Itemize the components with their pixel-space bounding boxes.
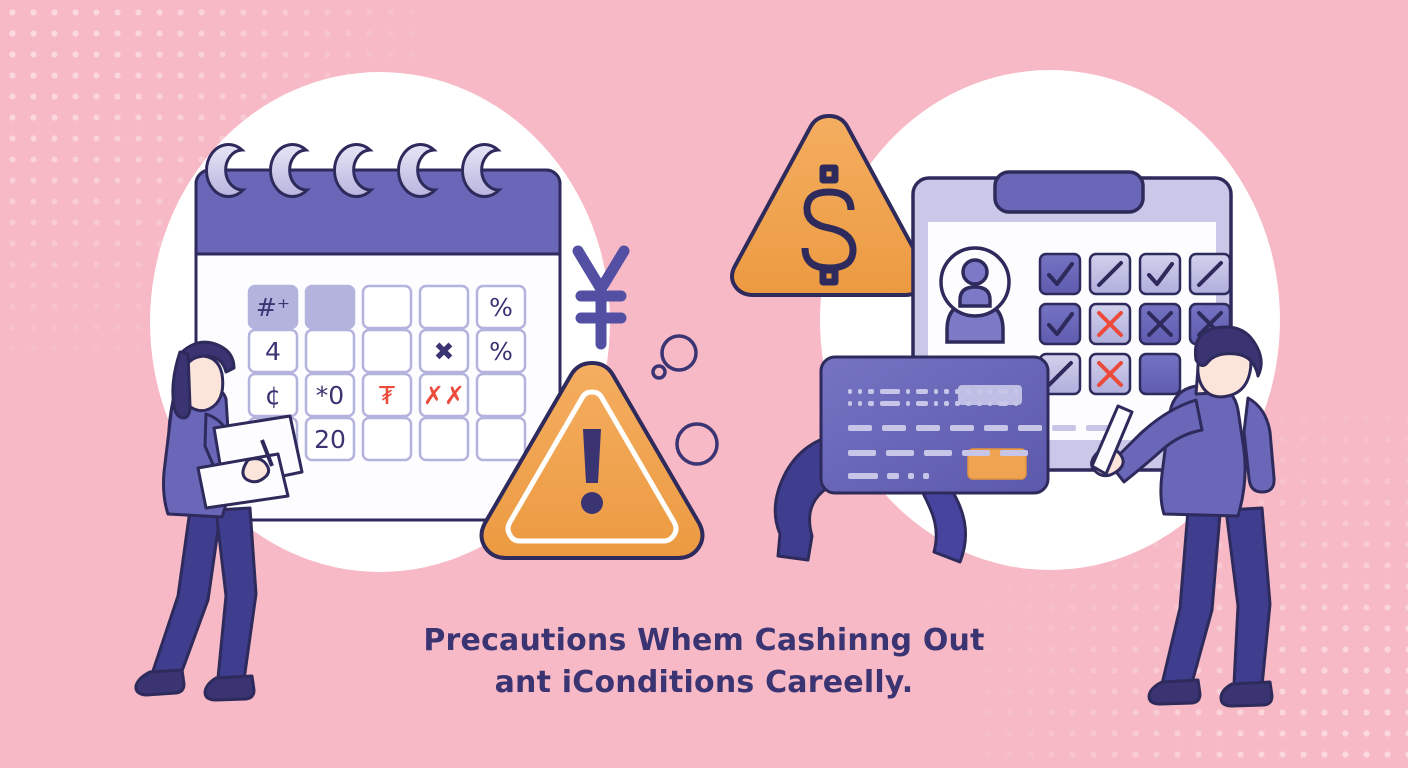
card-mark <box>848 425 872 431</box>
card-mark <box>858 401 862 406</box>
card-mark <box>916 401 928 406</box>
avatar-head <box>963 260 987 284</box>
card-mark <box>886 450 914 456</box>
card-mark <box>944 401 949 406</box>
card-mark <box>908 473 914 479</box>
card-mark <box>880 389 900 394</box>
card-mark <box>923 473 929 479</box>
card-mark <box>848 401 852 406</box>
arm-back <box>1244 398 1274 492</box>
card-mark <box>1014 401 1018 406</box>
user-avatar-icon <box>941 248 1009 342</box>
card-mark <box>1052 425 1076 431</box>
clipboard-clip <box>995 172 1143 212</box>
card-mark <box>848 450 876 456</box>
sweater <box>1161 386 1245 516</box>
card-mark <box>988 389 992 394</box>
caption-line-2: ant iConditions Careelly. <box>0 662 1408 704</box>
caption-line-1: Precautions Whem Cashinng Out <box>0 620 1408 662</box>
card-mark <box>906 401 910 406</box>
card-mark <box>962 450 990 456</box>
card-mark <box>966 389 971 394</box>
caption: Precautions Whem Cashinng Out ant iCondi… <box>0 620 1408 704</box>
card-mark <box>868 401 874 406</box>
card-mark <box>887 473 899 479</box>
card-mark <box>916 389 928 394</box>
card-mark <box>934 389 938 394</box>
card-mark <box>916 425 940 431</box>
card-mark <box>998 389 1008 394</box>
card-mark <box>977 401 982 406</box>
avatar-body <box>960 287 990 306</box>
card-mark <box>955 401 960 406</box>
card-mark <box>848 389 852 394</box>
card-mark <box>848 473 878 479</box>
card-mark <box>882 425 906 431</box>
card-mark <box>998 401 1008 406</box>
card-mark <box>988 401 992 406</box>
checklist-box[interactable] <box>1140 254 1180 294</box>
card-mark <box>924 450 952 456</box>
card-mark <box>880 401 900 406</box>
card-mark <box>966 401 971 406</box>
card-mark <box>950 425 974 431</box>
card-mark <box>977 389 982 394</box>
checklist-box[interactable] <box>1140 354 1180 394</box>
card-mark <box>944 389 949 394</box>
card-mark <box>1018 425 1042 431</box>
card-mark <box>868 389 874 394</box>
checklist-box[interactable] <box>1040 254 1080 294</box>
card-mark <box>984 425 1008 431</box>
dollar-warning-triangle <box>732 116 926 295</box>
card-mark <box>934 401 938 406</box>
card-mark <box>955 389 960 394</box>
checklist-box[interactable] <box>1040 304 1080 344</box>
card-mark <box>1000 450 1028 456</box>
card-mark <box>1014 389 1018 394</box>
card-mark <box>858 389 862 394</box>
card-mark <box>906 389 910 394</box>
illustration-canvas: #⁺%4✖%¢*0₮✗✗20 <box>0 0 1408 768</box>
